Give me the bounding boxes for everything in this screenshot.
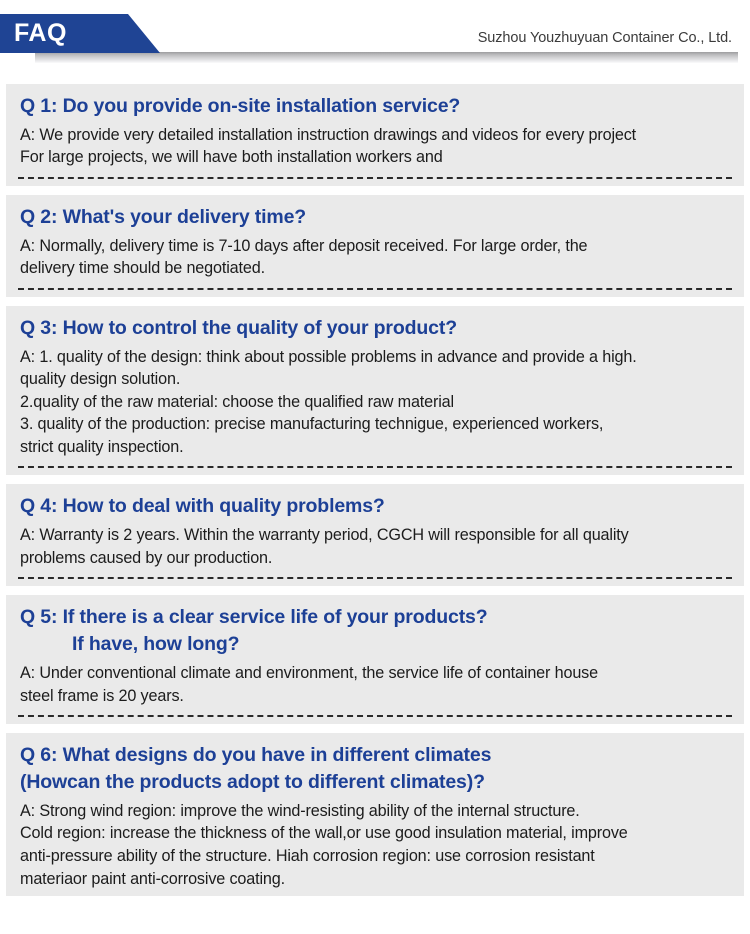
faq-answer: A: 1. quality of the design: think about…: [6, 346, 744, 459]
faq-question-line: Q 5: If there is a clear service life of…: [20, 604, 730, 631]
faq-question-line: Q 3: How to control the quality of your …: [20, 315, 730, 342]
faq-question-line: If have, how long?: [20, 631, 730, 658]
faq-list: Q 1: Do you provide on-site installation…: [6, 84, 744, 896]
faq-item: Q 2: What's your delivery time?A: Normal…: [6, 195, 744, 297]
company-name: Suzhou Youzhuyuan Container Co., Ltd.: [478, 30, 732, 46]
faq-answer-line: A: Under conventional climate and enviro…: [20, 662, 734, 685]
faq-answer: A: Strong wind region: improve the wind-…: [6, 800, 744, 890]
faq-answer: A: Normally, delivery time is 7-10 days …: [6, 235, 744, 280]
faq-answer-line: A: We provide very detailed installation…: [20, 124, 734, 147]
faq-question: Q 1: Do you provide on-site installation…: [6, 93, 744, 120]
faq-divider: [18, 177, 732, 180]
faq-answer-line: delivery time should be negotiated.: [20, 257, 734, 280]
page-header: FAQ Suzhou Youzhuyuan Container Co., Ltd…: [0, 0, 738, 84]
faq-item: Q 5: If there is a clear service life of…: [6, 595, 744, 724]
faq-gap: [6, 724, 744, 733]
faq-question: Q 3: How to control the quality of your …: [6, 315, 744, 342]
faq-answer-line: 2.quality of the raw material: choose th…: [20, 391, 734, 414]
faq-answer-line: A: Normally, delivery time is 7-10 days …: [20, 235, 734, 258]
faq-item: Q 1: Do you provide on-site installation…: [6, 84, 744, 186]
faq-gap: [6, 475, 744, 484]
faq-question: Q 4: How to deal with quality problems?: [6, 493, 744, 520]
faq-question-line: Q 1: Do you provide on-site installation…: [20, 93, 730, 120]
faq-answer: A: Under conventional climate and enviro…: [6, 662, 744, 707]
faq-answer-line: materiaor paint anti-corrosive coating.: [20, 868, 734, 891]
faq-question: Q 5: If there is a clear service life of…: [6, 604, 744, 658]
faq-divider: [18, 577, 732, 580]
faq-ribbon: FAQ: [0, 14, 160, 53]
faq-question-line: Q 4: How to deal with quality problems?: [20, 493, 730, 520]
faq-gap: [6, 586, 744, 595]
faq-question-line: Q 2: What's your delivery time?: [20, 204, 730, 231]
faq-ribbon-label: FAQ: [0, 21, 67, 46]
faq-answer-line: A: 1. quality of the design: think about…: [20, 346, 734, 369]
faq-answer: A: Warranty is 2 years. Within the warra…: [6, 524, 744, 569]
faq-question: Q 6: What designs do you have in differe…: [6, 742, 744, 796]
faq-page: FAQ Suzhou Youzhuyuan Container Co., Ltd…: [0, 0, 750, 934]
faq-divider: [18, 466, 732, 469]
header-gradient-bar: [35, 52, 738, 63]
faq-item: Q 6: What designs do you have in differe…: [6, 733, 744, 896]
faq-answer-line: 3. quality of the production: precise ma…: [20, 413, 734, 436]
faq-answer-line: A: Strong wind region: improve the wind-…: [20, 800, 734, 823]
faq-gap: [6, 186, 744, 195]
faq-question-line: Q 6: What designs do you have in differe…: [20, 742, 730, 769]
faq-item: Q 4: How to deal with quality problems?A…: [6, 484, 744, 586]
faq-answer-line: For large projects, we will have both in…: [20, 146, 734, 169]
faq-answer-line: strict quality inspection.: [20, 436, 734, 459]
faq-answer-line: anti-pressure ability of the structure. …: [20, 845, 734, 868]
faq-answer: A: We provide very detailed installation…: [6, 124, 744, 169]
faq-answer-line: Cold region: increase the thickness of t…: [20, 822, 734, 845]
faq-answer-line: steel frame is 20 years.: [20, 685, 734, 708]
faq-gap: [6, 297, 744, 306]
faq-divider: [18, 715, 732, 718]
faq-answer-line: problems caused by our production.: [20, 547, 734, 570]
faq-answer-line: quality design solution.: [20, 368, 734, 391]
faq-divider: [18, 288, 732, 291]
faq-question: Q 2: What's your delivery time?: [6, 204, 744, 231]
faq-item: Q 3: How to control the quality of your …: [6, 306, 744, 475]
faq-answer-line: A: Warranty is 2 years. Within the warra…: [20, 524, 734, 547]
faq-question-line: (Howcan the products adopt to different …: [20, 769, 730, 796]
